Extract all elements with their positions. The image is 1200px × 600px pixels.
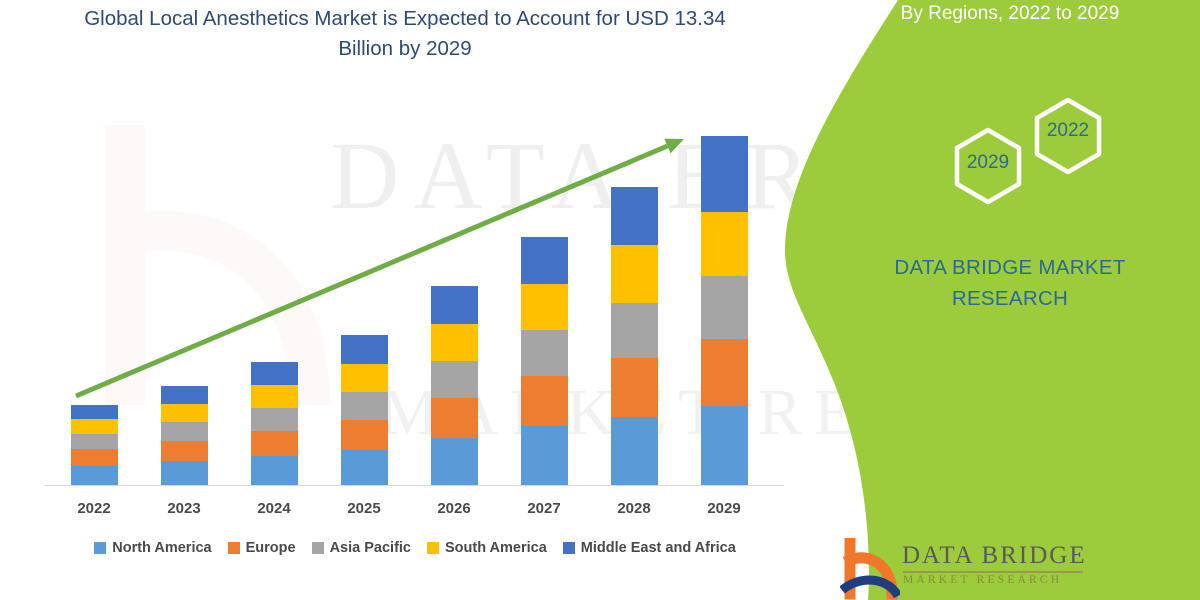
legend-item[interactable]: South America <box>427 540 547 556</box>
bar-segment <box>611 358 658 417</box>
bar-segment <box>701 406 748 485</box>
bar-segment <box>431 324 478 361</box>
bar-segment <box>701 276 748 339</box>
legend-label: Middle East and Africa <box>581 540 736 556</box>
logo-tagline: MARKET RESEARCH <box>903 574 1062 586</box>
x-tick-2024: 2024 <box>229 500 319 517</box>
bar-segment <box>161 386 208 404</box>
bar-segment <box>701 212 748 276</box>
bar-segment <box>431 361 478 398</box>
x-tick-2027: 2027 <box>499 500 589 517</box>
legend-item[interactable]: Europe <box>228 540 296 556</box>
x-tick-2028: 2028 <box>589 500 679 517</box>
bar-segment <box>161 461 208 485</box>
legend-swatch-icon <box>563 542 575 554</box>
bar-segment <box>521 330 568 376</box>
bar-2028[interactable] <box>611 187 658 485</box>
brand-block: DATA BRIDGE MARKET RESEARCH <box>855 252 1165 314</box>
bar-segment <box>251 408 298 431</box>
legend-item[interactable]: Asia Pacific <box>312 540 411 556</box>
x-tick-2022: 2022 <box>49 500 139 517</box>
x-tick-2029: 2029 <box>679 500 769 517</box>
bar-segment <box>701 339 748 406</box>
legend-swatch-icon <box>427 542 439 554</box>
bar-segment <box>521 237 568 284</box>
x-tick-2025: 2025 <box>319 500 409 517</box>
hexagon-badges: 2022 2029 <box>925 90 1125 210</box>
bar-segment <box>521 426 568 485</box>
bridge-b-logo-icon <box>840 538 900 600</box>
bar-segment <box>251 456 298 485</box>
bar-segment <box>251 362 298 385</box>
bar-segment <box>611 417 658 485</box>
brand-line-2: RESEARCH <box>855 283 1165 314</box>
bar-segment <box>341 420 388 450</box>
bar-segment <box>431 438 478 485</box>
bar-2027[interactable] <box>521 237 568 485</box>
chart-plot-area: 20222023202420252026202720282029 <box>0 0 820 600</box>
bar-segment <box>521 284 568 330</box>
legend-swatch-icon <box>312 542 324 554</box>
legend-swatch-icon <box>94 542 106 554</box>
bar-segment <box>431 398 478 438</box>
bar-segment <box>431 286 478 324</box>
logo-divider <box>903 571 1083 573</box>
bar-segment <box>611 245 658 303</box>
bar-segment <box>71 419 118 434</box>
bar-segment <box>341 450 388 485</box>
bar-2022[interactable] <box>71 405 118 485</box>
legend-label: South America <box>445 540 547 556</box>
legend-label: Europe <box>246 540 296 556</box>
bar-segment <box>161 441 208 461</box>
panel-subtitle: By Regions, 2022 to 2029 <box>820 2 1200 26</box>
legend-label: North America <box>112 540 211 556</box>
bar-segment <box>251 385 298 408</box>
bar-segment <box>521 376 568 426</box>
hex-label-start: 2022 <box>1033 120 1103 142</box>
bar-segment <box>71 449 118 466</box>
brand-line-1: DATA BRIDGE MARKET <box>855 252 1165 283</box>
x-tick-2026: 2026 <box>409 500 499 517</box>
logo-name: DATA BRIDGE <box>902 542 1087 570</box>
bar-2025[interactable] <box>341 335 388 485</box>
bar-segment <box>341 364 388 392</box>
hex-label-end: 2029 <box>953 152 1023 174</box>
bar-segment <box>161 404 208 422</box>
bar-segment <box>611 187 658 245</box>
bar-segment <box>71 466 118 485</box>
bar-2029[interactable] <box>701 136 748 485</box>
legend-item[interactable]: Middle East and Africa <box>563 540 736 556</box>
bar-segment <box>71 405 118 419</box>
bar-segment <box>341 392 388 420</box>
infographic-root: DATA BRIDGE MARKET RESEARCH By Regions, … <box>0 0 1200 600</box>
chart-legend: North AmericaEuropeAsia PacificSouth Ame… <box>45 540 785 556</box>
bar-segment <box>71 434 118 449</box>
bar-segment <box>251 431 298 456</box>
bar-2024[interactable] <box>251 362 298 485</box>
bar-segment <box>341 335 388 364</box>
bar-segment <box>701 136 748 212</box>
bar-2023[interactable] <box>161 386 208 485</box>
legend-swatch-icon <box>228 542 240 554</box>
bar-2026[interactable] <box>431 286 478 485</box>
bar-segment <box>161 422 208 441</box>
legend-label: Asia Pacific <box>330 540 411 556</box>
bar-segment <box>611 303 658 358</box>
company-logo: DATA BRIDGE MARKET RESEARCH <box>840 538 1180 600</box>
legend-item[interactable]: North America <box>94 540 211 556</box>
x-tick-2023: 2023 <box>139 500 229 517</box>
hexagon-shapes-icon <box>925 90 1125 210</box>
